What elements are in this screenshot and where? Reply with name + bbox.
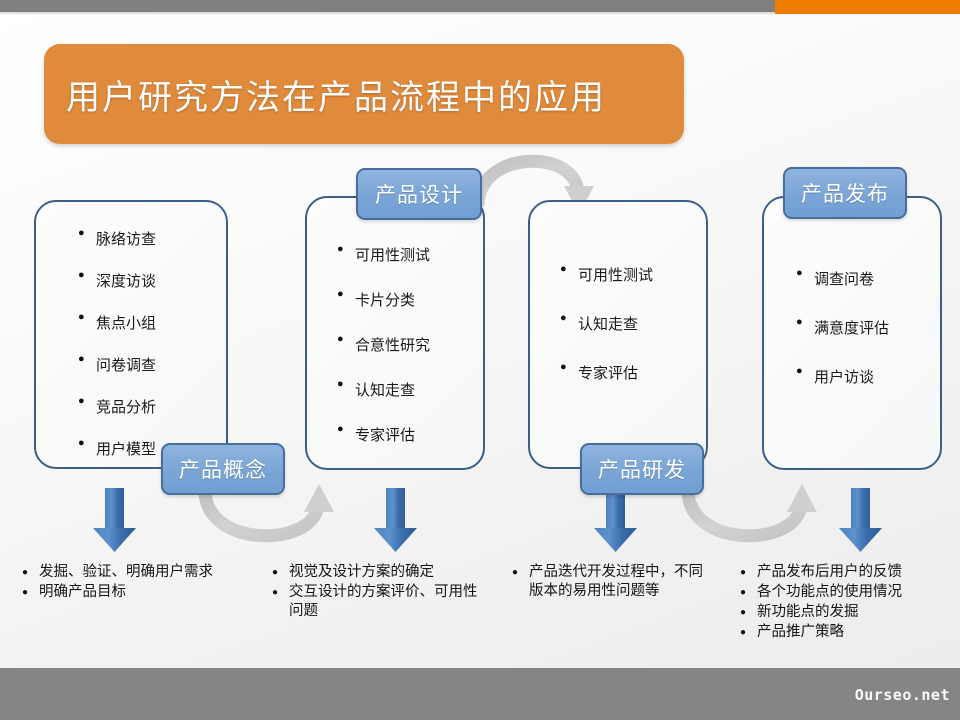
outcome-column-design: 视觉及设计方案的确定 交互设计的方案评价、可用性问题 xyxy=(272,563,487,622)
list-item: 发掘、验证、明确用户需求 xyxy=(22,563,272,582)
stage-box-rnd[interactable]: 可用性测试 认知走查 专家评估 xyxy=(528,200,708,469)
list-item: 用户访谈 xyxy=(796,366,940,387)
down-arrow-release xyxy=(839,488,882,552)
list-item: 视觉及设计方案的确定 xyxy=(272,563,487,582)
stage-label-design[interactable]: 产品设计 xyxy=(356,168,482,220)
list-item: 产品迭代开发过程中，不同版本的易用性问题等 xyxy=(512,563,712,601)
list-item: 专家评估 xyxy=(337,424,483,445)
stage-box-concept[interactable]: 脉络访查 深度访谈 焦点小组 问卷调查 竞品分析 用户模型 xyxy=(34,200,228,469)
stage-box-release[interactable]: 调查问卷 满意度评估 用户访谈 xyxy=(762,196,942,470)
list-item: 竞品分析 xyxy=(78,396,226,417)
list-item: 各个功能点的使用情况 xyxy=(740,583,955,602)
list-item: 产品发布后用户的反馈 xyxy=(740,563,955,582)
down-arrow-concept xyxy=(93,488,136,552)
down-arrow-design xyxy=(374,488,417,552)
curved-arrow-rnd-to-release xyxy=(688,484,817,536)
stage-label-concept[interactable]: 产品概念 xyxy=(161,443,285,495)
footer-bar xyxy=(0,668,960,720)
list-item: 产品推广策略 xyxy=(740,623,955,642)
header-gray-bar xyxy=(0,0,775,12)
slide-canvas: 用户研究方法在产品流程中的应用 xyxy=(0,0,960,720)
outcome-column-release: 产品发布后用户的反馈 各个功能点的使用情况 新功能点的发掘 产品推广策略 xyxy=(740,563,955,643)
method-list-rnd: 可用性测试 认知走查 专家评估 xyxy=(560,264,706,383)
list-item: 调查问卷 xyxy=(796,268,940,289)
outcome-column-rnd: 产品迭代开发过程中，不同版本的易用性问题等 xyxy=(512,563,712,602)
down-arrow-rnd xyxy=(594,488,637,552)
list-item: 问卷调查 xyxy=(78,354,226,375)
list-item: 明确产品目标 xyxy=(22,583,272,602)
list-item: 可用性测试 xyxy=(560,264,706,285)
list-item: 卡片分类 xyxy=(337,289,483,310)
list-item: 深度访谈 xyxy=(78,270,226,291)
list-item: 焦点小组 xyxy=(78,312,226,333)
list-item: 合意性研究 xyxy=(337,334,483,355)
list-item: 认知走查 xyxy=(560,313,706,334)
method-list-design: 可用性测试 卡片分类 合意性研究 认知走查 专家评估 xyxy=(337,244,483,445)
stage-box-design[interactable]: 可用性测试 卡片分类 合意性研究 认知走查 专家评估 xyxy=(305,196,485,470)
watermark: Ourseo.net xyxy=(855,686,950,704)
list-item: 交互设计的方案评价、可用性问题 xyxy=(272,583,487,621)
list-item: 满意度评估 xyxy=(796,317,940,338)
list-item: 新功能点的发掘 xyxy=(740,603,955,622)
list-item: 专家评估 xyxy=(560,362,706,383)
header-orange-accent-bar xyxy=(775,0,960,14)
list-item: 脉络访查 xyxy=(78,228,226,249)
stage-label-rnd[interactable]: 产品研发 xyxy=(580,443,704,495)
stage-label-release[interactable]: 产品发布 xyxy=(783,167,907,219)
title-banner: 用户研究方法在产品流程中的应用 xyxy=(44,44,684,144)
page-title: 用户研究方法在产品流程中的应用 xyxy=(44,70,606,119)
method-list-release: 调查问卷 满意度评估 用户访谈 xyxy=(796,268,940,387)
list-item: 认知走查 xyxy=(337,379,483,400)
list-item: 可用性测试 xyxy=(337,244,483,265)
outcome-column-concept: 发掘、验证、明确用户需求 明确产品目标 xyxy=(22,563,272,603)
header-bar-shadow xyxy=(0,12,775,15)
method-list-concept: 脉络访查 深度访谈 焦点小组 问卷调查 竞品分析 用户模型 xyxy=(78,228,226,459)
